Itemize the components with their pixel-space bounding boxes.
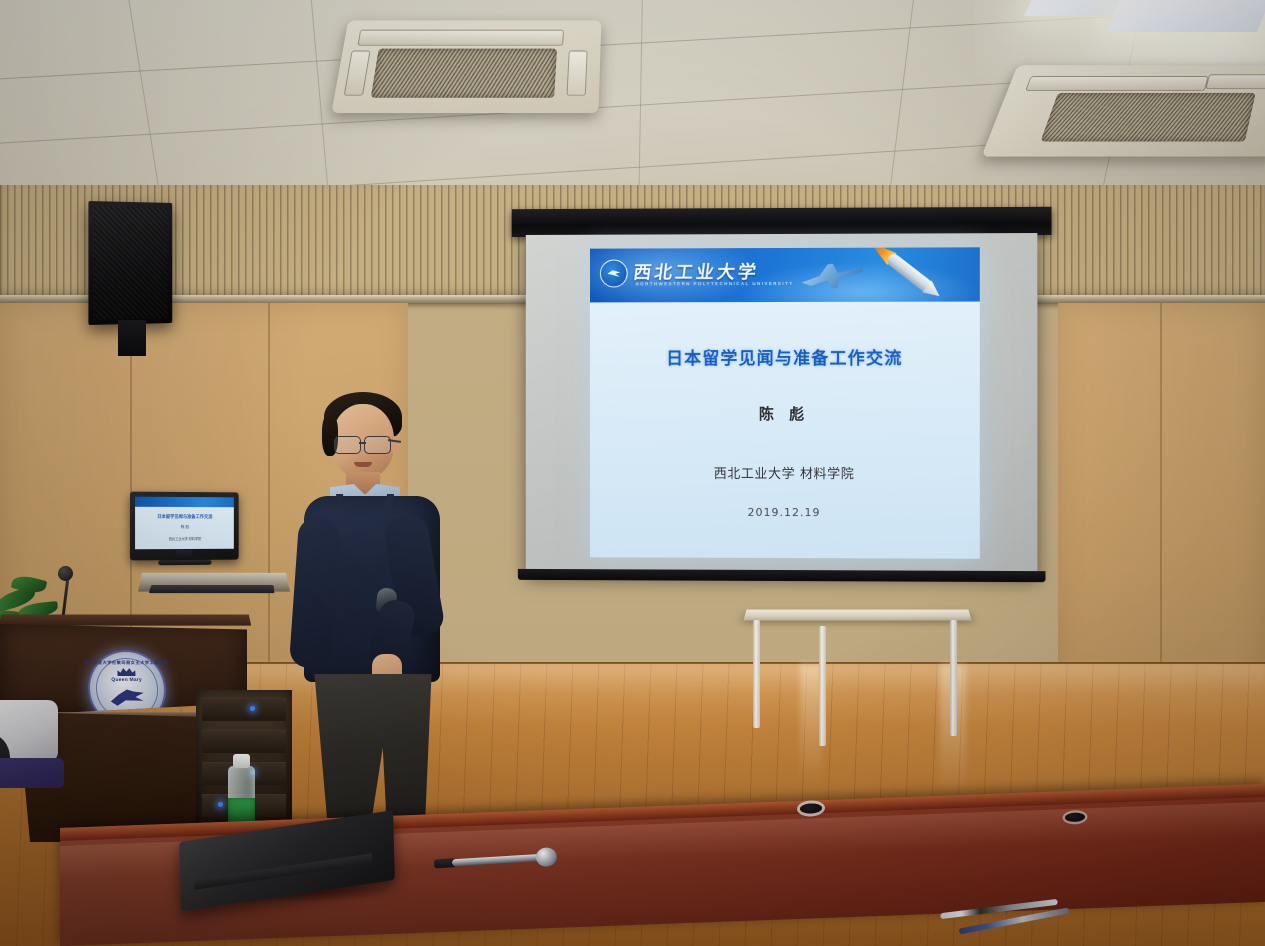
monitor-slide-author: 陈 彪 (135, 525, 234, 530)
ear (390, 436, 401, 453)
microphone-head-icon (58, 566, 73, 581)
monitor-slide-title: 日本留学见闻与准备工作交流 (135, 514, 234, 520)
ceiling-cassette-ac-right (981, 65, 1265, 156)
ceiling (0, 0, 1265, 205)
gooseneck-microphone (48, 564, 82, 616)
podium-surface (0, 614, 251, 625)
ac-grille (1041, 93, 1256, 142)
chair-seat (0, 758, 64, 788)
presenter (288, 392, 458, 842)
bag-flap (194, 853, 372, 889)
monitor-slide-banner (135, 497, 234, 508)
projected-slide: 西北工业大学 NORTHWESTERN POLYTECHNICAL UNIVER… (590, 247, 980, 558)
slide-banner: 西北工业大学 NORTHWESTERN POLYTECHNICAL UNIVER… (590, 247, 980, 302)
white-purple-chair (0, 700, 64, 828)
speaker-mount-bracket (118, 320, 146, 356)
screen-surface: 西北工业大学 NORTHWESTERN POLYTECHNICAL UNIVER… (526, 233, 1038, 575)
table-leg (753, 620, 760, 728)
slide-title: 日本留学见闻与准备工作交流 (590, 344, 980, 369)
slide-date: 2019.12.19 (590, 505, 980, 519)
table-leg (819, 626, 826, 746)
monitor-screen: 日本留学见闻与准备工作交流 陈 彪 西北工业大学 材料学院 (135, 497, 234, 550)
nwpu-crest-icon (600, 259, 628, 287)
white-folding-table (745, 606, 970, 748)
keyboard[interactable] (149, 585, 275, 593)
emblem-crown-label: Queen Mary (111, 677, 142, 683)
lecture-hall-photo: 西北工业大学 NORTHWESTERN POLYTECHNICAL UNIVER… (0, 0, 1265, 946)
glasses-bridge (359, 442, 366, 444)
slide-affiliation: 西北工业大学 材料学院 (590, 463, 980, 483)
confidence-monitor: 日本留学见闻与准备工作交流 陈 彪 西北工业大学 材料学院 (130, 492, 239, 561)
emblem-arc-top-text: 西北工业大学伦敦玛丽女王大学工程学院 (84, 660, 169, 666)
status-led (250, 706, 255, 711)
microphone-head-icon (535, 847, 557, 867)
glasses-icon (334, 436, 361, 454)
glasses-icon-right (364, 436, 391, 454)
banner-university-name-en: NORTHWESTERN POLYTECHNICAL UNIVERSITY (636, 281, 794, 286)
table-top (743, 610, 971, 621)
wall-mounted-loudspeaker (88, 201, 172, 325)
projection-screen: 西北工业大学 NORTHWESTERN POLYTECHNICAL UNIVER… (512, 207, 1052, 581)
mouth (354, 462, 372, 467)
bottle-cap (233, 754, 250, 768)
status-led (218, 802, 223, 807)
table-leg (950, 620, 957, 736)
monitor-foot (158, 560, 211, 565)
slide-author: 陈 彪 (590, 403, 980, 424)
monitor-slide-affiliation: 西北工业大学 材料学院 (135, 536, 234, 541)
ceiling-cassette-ac-left (331, 20, 601, 113)
ac-grille (371, 49, 557, 98)
fluorescent-light-fixture-secondary (1107, 0, 1265, 32)
